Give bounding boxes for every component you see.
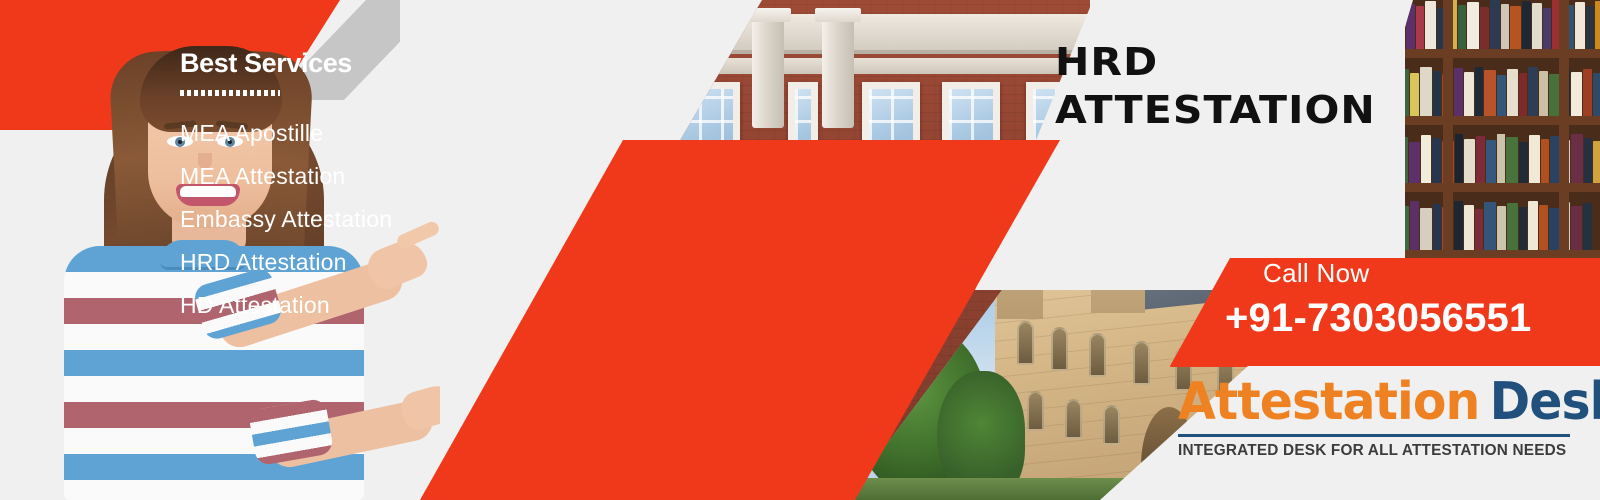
logo-word-desk: Desk bbox=[1490, 372, 1600, 432]
dotted-divider bbox=[180, 90, 280, 96]
services-content: Best Services MEA Apostille MEA Attestat… bbox=[180, 50, 600, 327]
attestation-banner: HRD ATTESTATION Best Services MEA Aposti… bbox=[0, 0, 1600, 500]
heading-line-1: HRD bbox=[1055, 38, 1379, 86]
page-title: HRD ATTESTATION bbox=[1055, 38, 1379, 134]
list-item[interactable]: HRD Attestation bbox=[180, 241, 600, 284]
list-item[interactable]: MEA Apostille bbox=[180, 112, 600, 155]
phone-number[interactable]: +91-7303056551 bbox=[1225, 296, 1531, 341]
list-item[interactable]: MEA Attestation bbox=[180, 155, 600, 198]
list-item[interactable]: HD Attestation bbox=[180, 284, 600, 327]
list-item[interactable]: Embassy Attestation bbox=[180, 198, 600, 241]
logo-wordmark: AttestationDesk bbox=[1178, 372, 1554, 432]
logo-tagline: INTEGRATED DESK FOR ALL ATTESTATION NEED… bbox=[1178, 442, 1574, 460]
call-now-label: Call Now bbox=[1263, 258, 1369, 289]
logo-underline bbox=[1178, 434, 1570, 437]
heading-line-2: ATTESTATION bbox=[1055, 86, 1379, 134]
services-list: MEA Apostille MEA Attestation Embassy At… bbox=[180, 112, 600, 327]
logo-word-attestation: Attestation bbox=[1178, 372, 1479, 432]
services-title: Best Services bbox=[180, 50, 600, 77]
brand-logo[interactable]: AttestationDesk INTEGRATED DESK FOR ALL … bbox=[1178, 372, 1578, 460]
decorative-orange-strip bbox=[1170, 358, 1600, 367]
